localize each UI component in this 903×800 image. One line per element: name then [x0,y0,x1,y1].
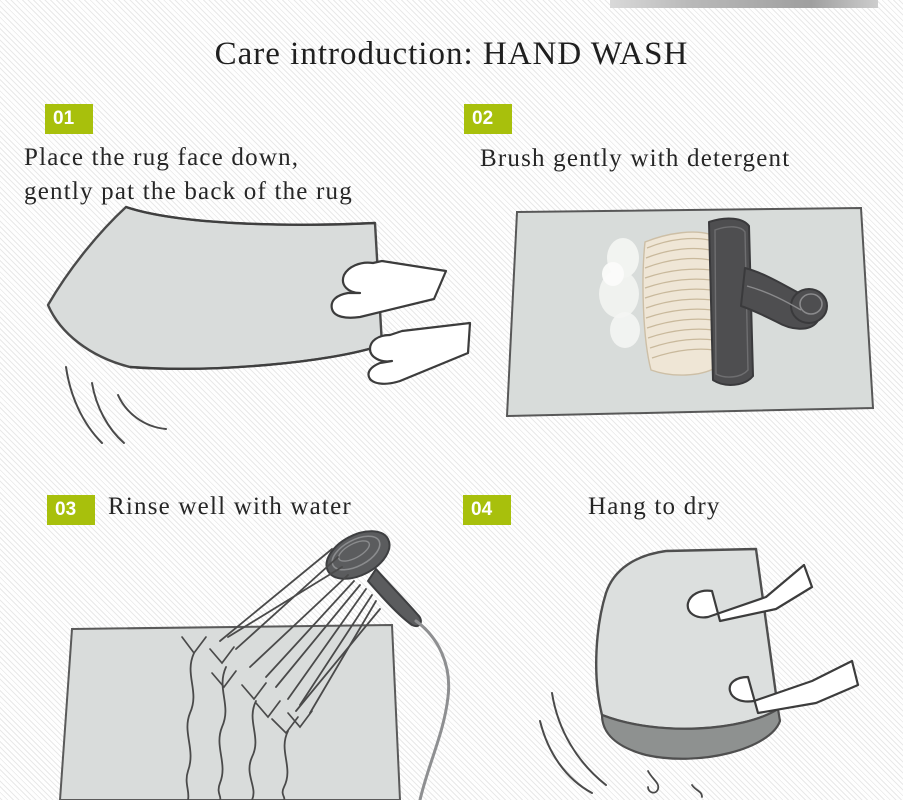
motion-arc-2 [540,721,592,793]
drip-mark-1 [648,771,658,793]
motion-arc-1 [552,693,606,785]
illustration-step-01 [30,195,470,455]
shower-hose [416,621,449,800]
shower-handle [368,569,421,626]
illustration-step-03 [60,525,470,800]
illustration-step-04 [540,535,903,800]
step-badge-01: 01 [45,104,93,134]
drip-mark-2 [692,785,702,797]
care-instruction-page: Care introduction: HAND WASH 01 Place th… [0,0,903,800]
step-badge-03: 03 [47,495,95,525]
rug-shape [48,207,382,369]
step-badge-02: 02 [464,104,512,134]
brush-bristles [643,232,715,375]
illustration-step-02 [495,190,895,435]
hand-upper [332,261,446,318]
page-title: Care introduction: HAND WASH [0,36,903,73]
top-edge-bar [610,0,878,8]
hand-lower [368,323,470,384]
motion-arc-2 [92,383,124,443]
step-text-03: Rinse well with water [108,493,352,521]
step-text-04: Hang to dry [588,493,721,521]
step-text-02: Brush gently with detergent [480,145,790,173]
motion-arc-1 [66,367,102,443]
step-badge-04: 04 [463,495,511,525]
motion-arc-3 [118,395,166,429]
